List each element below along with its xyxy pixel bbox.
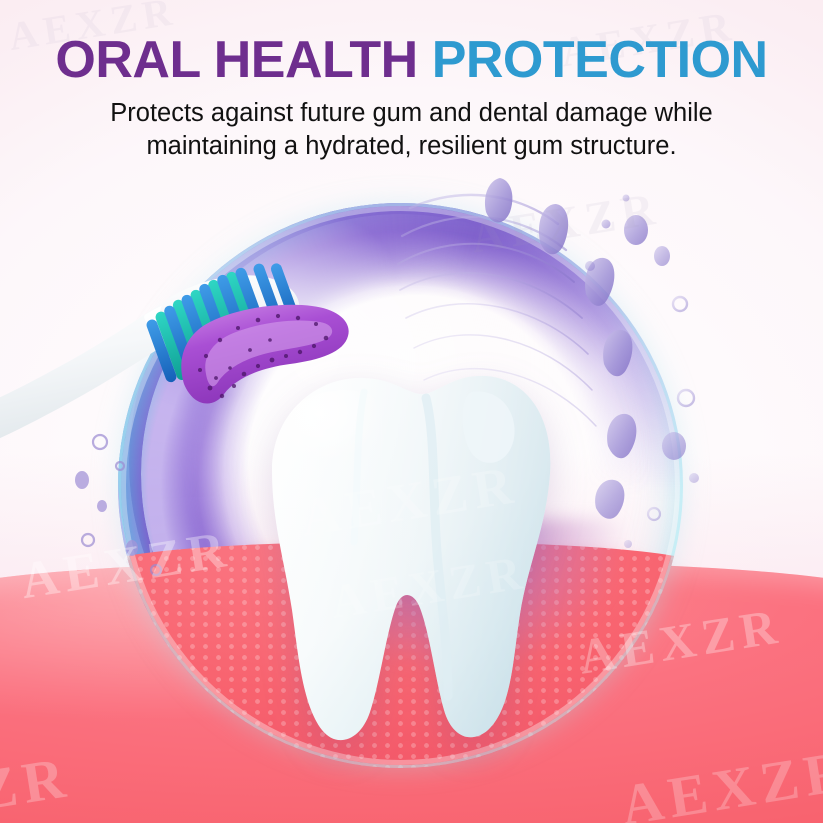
subtitle-line-2: maintaining a hydrated, resilient gum st… — [62, 130, 762, 163]
subtitle-line-1: Protects against future gum and dental d… — [62, 97, 762, 130]
title-part-primary: ORAL HEALTH — [55, 31, 417, 89]
toothbrush-illustration — [0, 218, 390, 468]
page-subtitle: Protects against future gum and dental d… — [62, 97, 762, 162]
poster-root: AEXZR AEXZR AEXZR AEXZR AEXZR AEXZR AEXZ… — [0, 0, 823, 823]
title-part-accent: PROTECTION — [432, 31, 768, 89]
page-title: ORAL HEALTH PROTECTION — [0, 0, 823, 87]
header-block: ORAL HEALTH PROTECTION Protects against … — [0, 0, 823, 162]
